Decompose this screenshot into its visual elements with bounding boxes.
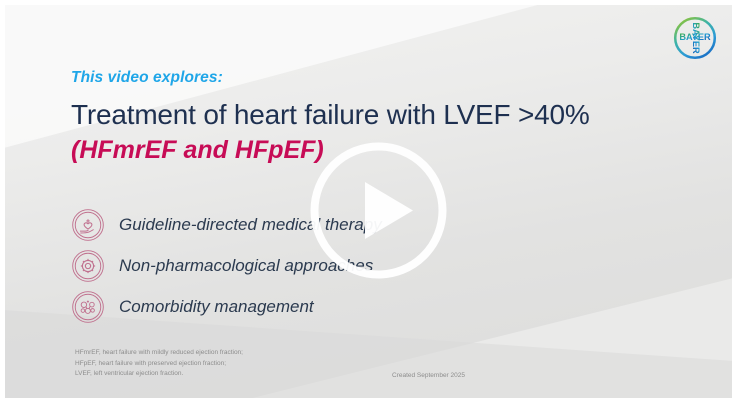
abbreviation-line: HFpEF, heart failure with preserved ejec… [75,359,243,370]
page-title: Treatment of heart failure with LVEF >40… [71,99,671,131]
list-item-label: Comorbidity management [119,297,314,317]
abbreviation-line: HFmrEF, heart failure with mildly reduce… [75,348,243,359]
list-item: Comorbidity management [71,286,631,327]
abbreviation-line: LVEF, left ventricular ejection fraction… [75,369,243,380]
play-triangle-icon [365,182,413,239]
heart-in-hand-icon [71,208,105,242]
video-player[interactable]: BAYER BAYER This video explores: Treatme… [0,0,737,403]
organs-cluster-icon [71,290,105,324]
eyebrow-text: This video explores: [71,69,671,87]
play-button[interactable] [310,142,447,279]
gear-icon [71,249,105,283]
abbreviation-list: HFmrEF, heart failure with mildly reduce… [75,348,243,380]
bayer-logo: BAYER BAYER [672,15,718,61]
svg-text:BAYER: BAYER [691,22,701,54]
created-date: Created September 2025 [392,372,675,380]
footnote-block: HFmrEF, heart failure with mildly reduce… [75,348,675,380]
